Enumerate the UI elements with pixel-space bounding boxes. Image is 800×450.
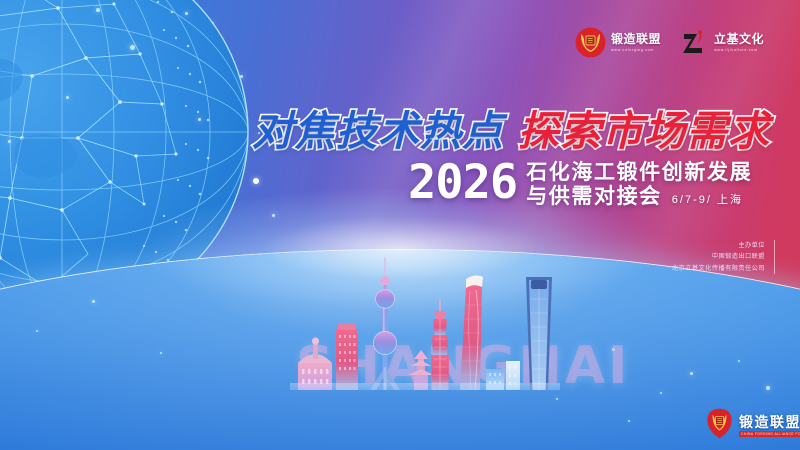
event-promo-banner: 锻造联盟 www.cnforging.com 立基文化 www.lijicult…: [0, 0, 800, 450]
shanghai-tower: [460, 275, 483, 390]
logo-forging-alliance[interactable]: 锻造联盟 www.cnforging.com: [575, 27, 661, 58]
shanghai-skyline-illustration: [290, 255, 560, 390]
oriental-pearl-tower: [370, 257, 400, 390]
organizer-entry-1: 中国锻造出口联盟: [672, 251, 765, 262]
event-date-location: 6/7-9/ 上海: [672, 191, 743, 207]
headline-part-2: 探索市场需求: [518, 97, 770, 157]
logo-liji-culture-text: 立基文化 www.lijiculture.com: [714, 33, 764, 52]
event-name-line-2-row: 与供需对接会 6/7-9/ 上海: [526, 185, 752, 209]
bottom-logo-name-en: CHINA FORGING ALLIANCE FOR IMPORT & EXPO…: [739, 431, 800, 438]
organizer-entry-2: 北京立基文化传播有限责任公司: [672, 263, 765, 274]
bottom-logo-text: 锻造联盟 CHINA FORGING ALLIANCE FOR IMPORT &…: [739, 415, 800, 438]
event-name-lines: 石化海工锻件创新发展 与供需对接会 6/7-9/ 上海: [526, 160, 752, 210]
bottom-logo-forging-alliance[interactable]: 锻造联盟 CHINA FORGING ALLIANCE FOR IMPORT &…: [706, 408, 800, 444]
forging-alliance-emblem-icon: [575, 27, 606, 58]
bund-custom-house: [298, 337, 332, 390]
logo-forging-alliance-name-en: www.cnforging.com: [611, 48, 661, 52]
midrise-tower: [336, 323, 358, 390]
event-year: 2026: [408, 160, 517, 206]
logo-liji-culture-name-en: www.lijiculture.com: [714, 48, 764, 52]
logo-forging-alliance-text: 锻造联盟 www.cnforging.com: [611, 33, 661, 52]
jin-mao-tower: [431, 299, 449, 390]
organizer-label: 主办单位: [672, 240, 765, 251]
headline-part-1: 对焦技术热点: [252, 97, 504, 157]
liji-culture-emblem-icon: [681, 29, 709, 57]
event-name-line-2: 与供需对接会: [526, 185, 662, 209]
logo-forging-alliance-name-cn: 锻造联盟: [611, 33, 661, 46]
logo-liji-culture[interactable]: 立基文化 www.lijiculture.com: [681, 29, 764, 57]
organizer-block: 主办单位 中国锻造出口联盟 北京立基文化传播有限责任公司: [672, 240, 775, 274]
top-logo-group: 锻造联盟 www.cnforging.com 立基文化 www.lijicult…: [575, 27, 764, 58]
logo-liji-culture-name-cn: 立基文化: [714, 33, 764, 46]
event-name-line-1: 石化海工锻件创新发展: [526, 161, 752, 185]
subtitle-block: 2026 石化海工锻件创新发展 与供需对接会 6/7-9/ 上海: [408, 160, 752, 210]
forging-alliance-emblem-icon: [706, 408, 733, 444]
headline: 对焦技术热点探索市场需求: [252, 97, 770, 157]
shanghai-world-financial-center: [526, 277, 552, 390]
bottom-logo-name-cn: 锻造联盟: [739, 415, 800, 429]
